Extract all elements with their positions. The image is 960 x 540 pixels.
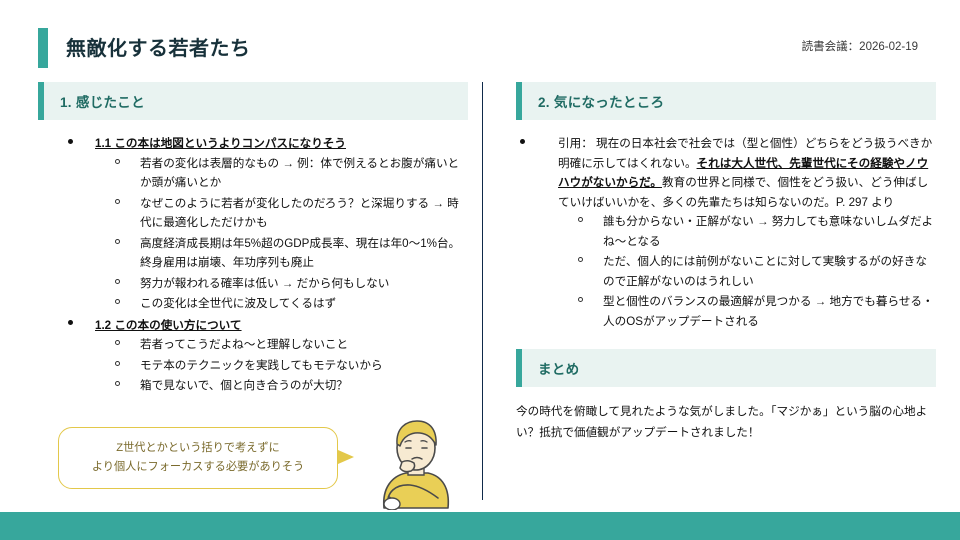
callout-pointer-icon — [338, 450, 354, 464]
sub-list: 若者の変化は表層的なもの → 例：体で例えるとお腹が痛いとか頭が痛いとか なぜこ… — [95, 154, 468, 314]
title-accent-bar — [38, 28, 48, 68]
list-item: 若者の変化は表層的なもの → 例：体で例えるとお腹が痛いとか頭が痛いとか — [95, 154, 468, 193]
list-item-label: 箱で見ないで、個と向き合うのが大切？ — [140, 379, 348, 392]
bullet-dot-icon — [68, 139, 73, 144]
list-item-label: ただ、個人的には前例がないことに対して実験するがの好きなので正解がないのはうれし… — [603, 255, 927, 288]
section-title-label: まとめ — [538, 358, 579, 378]
page-title: 無敵化する若者たち — [66, 32, 251, 61]
callout-line-2: より個人にフォーカスする必要がありそう — [92, 458, 304, 477]
list-item-label: モテ本のテクニックを実践してもモテないから — [140, 359, 383, 372]
list-item: ただ、個人的には前例がないことに対して実験するがの好きなので正解がないのはうれし… — [558, 252, 936, 291]
bullet-circle-icon — [115, 340, 120, 345]
list-item: 努力が報われる確率は低い → だから何もしない — [95, 274, 468, 294]
bullet-circle-icon — [115, 239, 120, 244]
callout-line-1: Z世代とかという括りで考えずに — [116, 439, 279, 458]
list-item: 引用： 現在の日本社会で社会では（型と個性）どちらをどう扱うべきか明確に示しては… — [516, 134, 936, 331]
bullet-circle-icon — [115, 299, 120, 304]
section-header-felt: 1. 感じたこと — [38, 82, 468, 120]
list-item: この変化は全世代に波及してくるはず — [95, 294, 468, 314]
callout-box: Z世代とかという括りで考えずに より個人にフォーカスする必要がありそう — [58, 427, 338, 489]
list-item: 誰も分からない・正解がない → 努力しても意味ないしムダだよね〜となる — [558, 212, 936, 251]
bullet-dot-icon — [520, 139, 525, 144]
section-header-concerns: 2. 気になったところ — [516, 82, 936, 120]
bullet-circle-icon — [115, 361, 120, 366]
list-item-label: 若者の変化は表層的なもの → 例：体で例えるとお腹が痛いとか頭が痛いとか — [140, 157, 459, 190]
column-divider — [482, 82, 483, 500]
sub-list: 誰も分からない・正解がない → 努力しても意味ないしムダだよね〜となる ただ、個… — [558, 212, 936, 331]
slide: 無敵化する若者たち 読書会議：2026-02-19 1. 感じたこと 1.1 こ… — [0, 0, 960, 540]
list-item: 高度経済成長期は年5%超のGDP成長率、現在は年0〜1%台。終身雇用は崩壊、年功… — [95, 234, 468, 273]
group-heading: 1.2 この本の使い方について — [95, 319, 242, 332]
section-header-summary: まとめ — [516, 349, 936, 387]
section-accent-bar — [516, 349, 522, 387]
bullet-circle-icon — [115, 159, 120, 164]
meeting-date: 読書会議：2026-02-19 — [802, 38, 918, 54]
list-item: 1.2 この本の使い方について 若者ってこうだよね〜と理解しないこと モテ本のテ… — [38, 316, 468, 396]
bullet-circle-icon — [115, 381, 120, 386]
list-item-label: なぜこのように若者が変化したのだろう？と深堀りする → 時代に最適化しただけかも — [140, 197, 459, 230]
list-item: 1.1 この本は地図というよりコンパスになりそう 若者の変化は表層的なもの → … — [38, 134, 468, 314]
list-item-label: 若者ってこうだよね〜と理解しないこと — [140, 338, 348, 351]
section-title-label: 2. 気になったところ — [538, 91, 664, 111]
sub-list: 若者ってこうだよね〜と理解しないこと モテ本のテクニックを実践してもモテないから… — [95, 335, 468, 396]
list-item: 型と個性のバランスの最適解が見つかる → 地方でも暮らせる・人のOSがアップデー… — [558, 292, 936, 331]
footer-bar — [0, 512, 960, 540]
list-item-label: 高度経済成長期は年5%超のGDP成長率、現在は年0〜1%台。終身雇用は崩壊、年功… — [140, 237, 460, 270]
list-item-label: 誰も分からない・正解がない → 努力しても意味ないしムダだよね〜となる — [603, 215, 933, 248]
section-accent-bar — [38, 82, 44, 120]
group-heading: 1.1 この本は地図というよりコンパスになりそう — [95, 137, 346, 150]
bullet-circle-icon — [578, 297, 583, 302]
list-item: モテ本のテクニックを実践してもモテないから — [95, 356, 468, 376]
bullet-dot-icon — [68, 320, 73, 325]
left-column: 1. 感じたこと 1.1 この本は地図というよりコンパスになりそう 若者の変化は… — [38, 82, 468, 398]
list-item-label: この変化は全世代に波及してくるはず — [140, 297, 336, 310]
bullet-circle-icon — [578, 257, 583, 262]
list-item: 箱で見ないで、個と向き合うのが大切？ — [95, 376, 468, 396]
bullet-circle-icon — [115, 279, 120, 284]
summary-body-text: 今の時代を俯瞰して見れたような気がしました。「マジかぁ」という脳の心地よい？抵抗… — [516, 401, 936, 443]
right-column: 2. 気になったところ 引用： 現在の日本社会で社会では（型と個性）どちらをどう… — [516, 82, 936, 443]
bullet-circle-icon — [578, 217, 583, 222]
bullet-circle-icon — [115, 199, 120, 204]
section-accent-bar — [516, 82, 522, 120]
list-item: なぜこのように若者が変化したのだろう？と深堀りする → 時代に最適化しただけかも — [95, 194, 468, 233]
list-item-label: 努力が報われる確率は低い → だから何もしない — [140, 277, 389, 290]
section-title-label: 1. 感じたこと — [60, 91, 145, 111]
list-item: 若者ってこうだよね〜と理解しないこと — [95, 335, 468, 355]
list-item-label: 型と個性のバランスの最適解が見つかる → 地方でも暮らせる・人のOSがアップデー… — [603, 295, 934, 328]
thinking-person-illustration — [358, 418, 470, 510]
left-bullet-list: 1.1 この本は地図というよりコンパスになりそう 若者の変化は表層的なもの → … — [38, 134, 468, 396]
right-bullet-list: 引用： 現在の日本社会で社会では（型と個性）どちらをどう扱うべきか明確に示しては… — [516, 134, 936, 331]
